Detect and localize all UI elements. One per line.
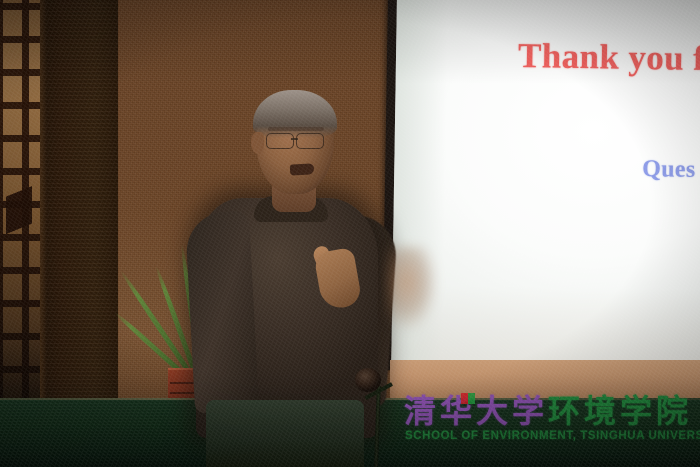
microphone-head xyxy=(355,368,381,392)
eyeglasses-bridge xyxy=(291,138,298,140)
presentation-photo: Thank you f Ques xyxy=(0,0,700,467)
speaker-trousers xyxy=(206,400,364,467)
eyeglasses-right-lens xyxy=(296,133,324,149)
speaker-ear xyxy=(251,132,264,154)
speaker-mouth xyxy=(290,163,315,175)
speaker-motion-blurred-hand xyxy=(386,246,438,336)
speaker-right-shoulder xyxy=(185,210,259,413)
speaker-brow xyxy=(268,127,324,131)
speaker-figure xyxy=(0,0,700,467)
eyeglasses-left-lens xyxy=(266,133,294,149)
